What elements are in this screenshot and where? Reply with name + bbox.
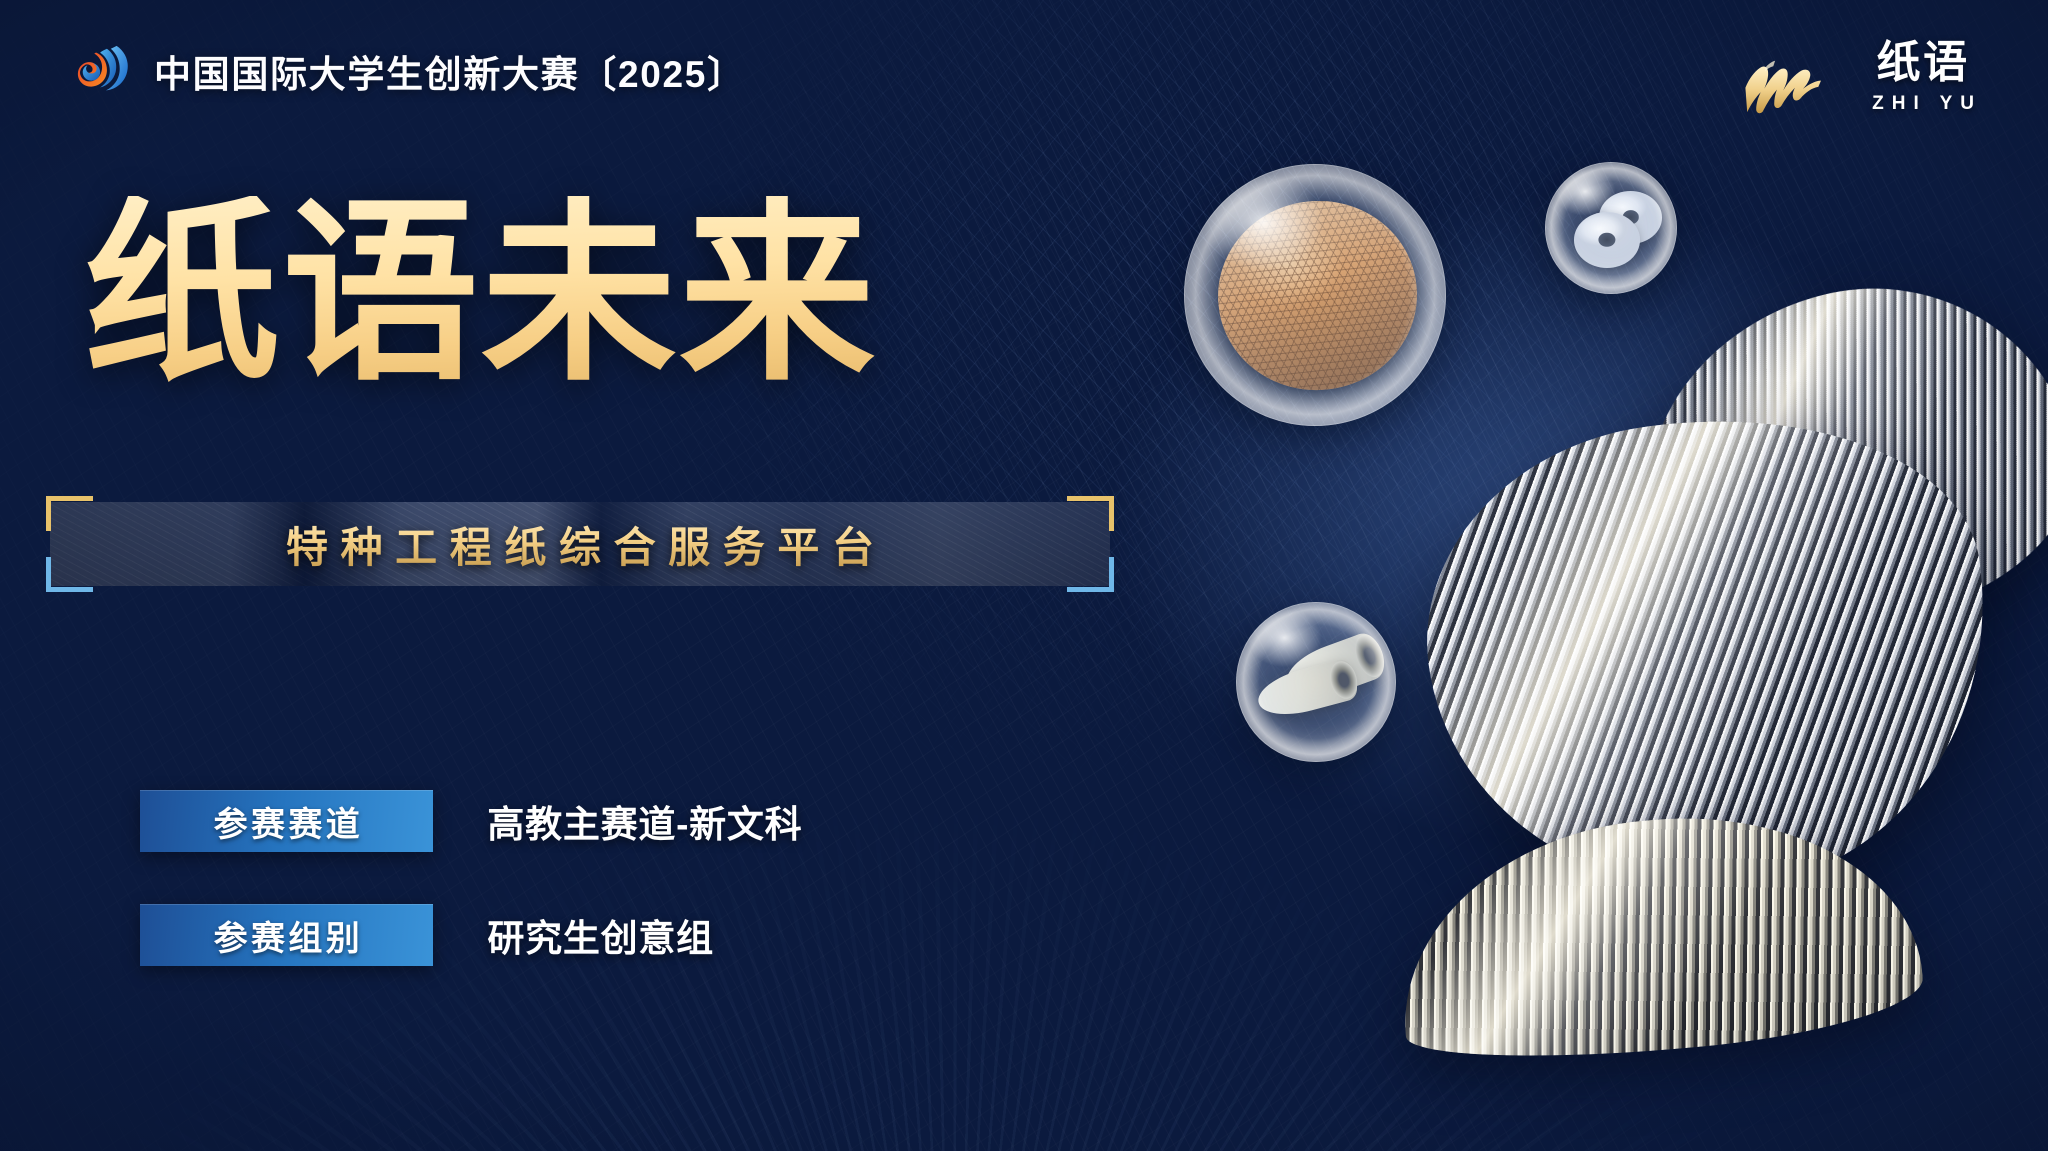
value-track: 高教主赛道-新文科 (487, 794, 802, 848)
glass-rim (1236, 602, 1396, 762)
presentation-slide: 中国国际大学生创新大赛〔2025〕 纸语 ZHI YU 纸语未来 (0, 0, 2048, 1151)
value-group: 研究生创意组 (487, 908, 713, 962)
info-row-group: 参赛组别 研究生创意组 (140, 904, 802, 966)
info-row-track: 参赛赛道 高教主赛道-新文科 (140, 790, 802, 852)
brand-logo: 纸语 ZHI YU (1740, 40, 1982, 114)
glass-rim (1545, 162, 1677, 294)
paper-discs-sphere-image (1545, 162, 1677, 294)
brand-text: 纸语 ZHI YU (1864, 41, 1982, 113)
title-block: 纸语未来 (84, 196, 877, 392)
zhiyu-brush-mark-icon (1740, 40, 1848, 114)
badge-track-label: 参赛赛道 (140, 790, 433, 852)
corner-bracket-top-left (46, 496, 93, 531)
corner-bracket-bottom-left (46, 557, 93, 592)
corner-bracket-bottom-right (1067, 557, 1114, 592)
honeycomb-sphere-image (1184, 164, 1446, 426)
subtitle-text: 特种工程纸综合服务平台 (50, 502, 1110, 586)
paper-cones-sphere-image (1236, 602, 1396, 762)
subtitle-banner: 特种工程纸综合服务平台 (50, 502, 1110, 586)
corner-bracket-top-right (1067, 496, 1114, 531)
brand-name-en: ZHI YU (1864, 94, 1982, 113)
slide-header: 中国国际大学生创新大赛〔2025〕 (74, 40, 746, 102)
glass-rim (1184, 164, 1446, 426)
competition-swirl-logo-icon (74, 40, 136, 102)
info-rows: 参赛赛道 高教主赛道-新文科 参赛组别 研究生创意组 (140, 790, 802, 1018)
badge-group-label: 参赛组别 (140, 904, 433, 966)
brand-name-cn: 纸语 (1876, 41, 1969, 85)
competition-title: 中国国际大学生创新大赛〔2025〕 (154, 44, 746, 98)
main-title: 纸语未来 (84, 196, 877, 392)
